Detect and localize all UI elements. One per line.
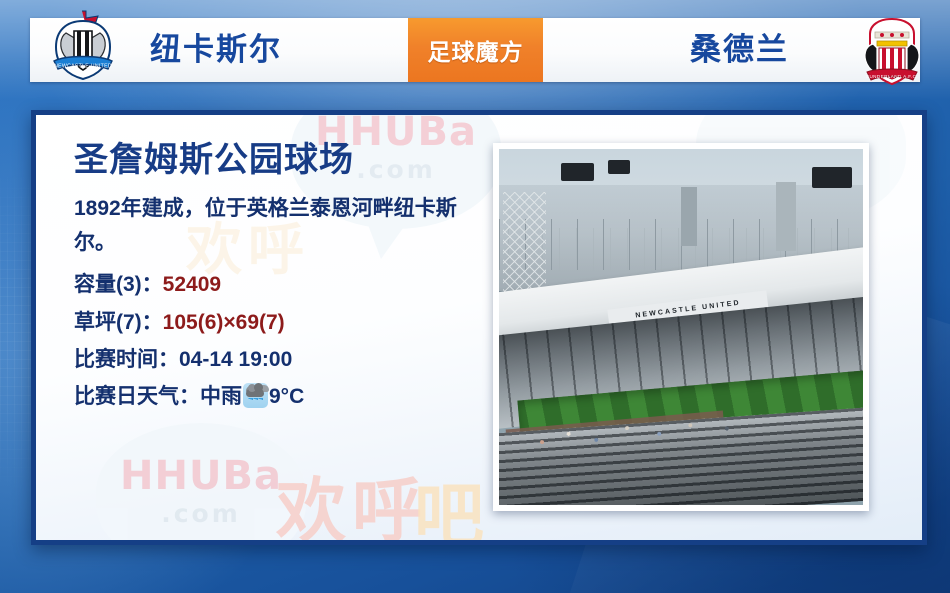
pitch-row: 草坪(7)：105(6)×69(7) [74, 304, 474, 341]
pitch-value: 105(6)×69(7) [163, 311, 285, 334]
watermark-domain-bottom: .com [96, 499, 306, 528]
kickoff-label: 比赛时间： [74, 348, 179, 371]
site-logo-text: 足球魔方 [428, 33, 524, 67]
moderate-rain-icon [243, 383, 268, 408]
capacity-label: 容量(3)： [74, 273, 163, 296]
sunderland-afc-crest-icon: SUNDERLAND A.F.C. [855, 14, 929, 88]
site-logo[interactable]: 足球魔方 [408, 18, 543, 82]
weather-temp: 9°C [269, 385, 304, 408]
watermark-bubble-bottom: HHUBa .com [96, 423, 306, 540]
svg-text:SUNDERLAND A.F.C.: SUNDERLAND A.F.C. [866, 74, 918, 79]
away-team-name: 桑德兰 [690, 24, 789, 69]
weather-condition: 中雨 [200, 385, 242, 408]
stadium-photo: NEWCASTLE UNITED [493, 143, 869, 511]
weather-label: 比赛日天气： [74, 385, 200, 408]
stadium-title: 圣詹姆斯公园球场 [74, 141, 474, 180]
weather-row: 比赛日天气：中雨9°C [74, 378, 474, 415]
kickoff-row: 比赛时间：04-14 19:00 [74, 341, 474, 378]
stadium-panel: HHUBa .com .com HHUBa .com 欢呼 吧 欢呼 圣詹姆斯公… [31, 110, 927, 545]
stadium-info-card: NEWCASTLE UNITED 纽卡斯尔 足球魔方 桑德兰 SUNDERLAN… [0, 0, 950, 593]
svg-text:NEWCASTLE UNITED: NEWCASTLE UNITED [54, 64, 112, 70]
newcastle-united-crest-icon: NEWCASTLE UNITED [46, 9, 120, 83]
capacity-row: 容量(3)：52409 [74, 266, 474, 303]
stadium-description: 1892年建成，位于英格兰泰恩河畔纽卡斯尔。 [74, 192, 474, 260]
watermark-brand-bottom: HHUBa [96, 453, 306, 499]
watermark-cn-part1: 欢呼 [276, 455, 428, 540]
watermark-cn-part2: 吧 [414, 460, 490, 540]
home-team-name: 纽卡斯尔 [150, 24, 282, 69]
pitch-label: 草坪(7)： [74, 311, 163, 334]
capacity-value: 52409 [163, 273, 221, 296]
stadium-details: 圣詹姆斯公园球场 1892年建成，位于英格兰泰恩河畔纽卡斯尔。 容量(3)：52… [74, 141, 474, 416]
kickoff-value: 04-14 19:00 [179, 348, 292, 371]
